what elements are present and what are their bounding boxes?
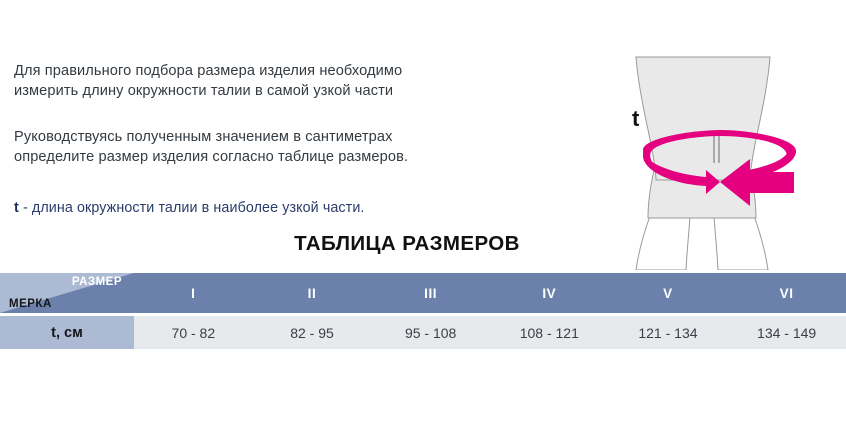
- size-table-head: РАЗМЕР МЕРКА I II III IV V VI: [0, 273, 846, 313]
- instruction-paragraph-2-line-1: Руководствуясь полученным значением в са…: [14, 127, 514, 147]
- corner-measure-label: МЕРКА: [9, 298, 52, 310]
- cell-size-2: 82 - 95: [253, 316, 372, 349]
- column-header-4: IV: [490, 273, 609, 313]
- table-header-row: РАЗМЕР МЕРКА I II III IV V VI: [0, 273, 846, 313]
- column-header-5: V: [609, 273, 728, 313]
- page-title: ТАБЛИЦА РАЗМЕРОВ: [0, 232, 846, 256]
- corner-size-label: РАЗМЕР: [72, 276, 122, 288]
- size-chart-page: Для правильного подбора размера изделия …: [0, 0, 846, 423]
- page-title-text: ТАБЛИЦА РАЗМЕРОВ: [294, 232, 520, 256]
- size-table: РАЗМЕР МЕРКА I II III IV V VI t, см: [0, 273, 846, 349]
- table-corner-cell: РАЗМЕР МЕРКА: [0, 273, 134, 313]
- cell-size-4: 108 - 121: [490, 316, 609, 349]
- instruction-paragraph-1-line-1: Для правильного подбора размера изделия …: [14, 61, 514, 81]
- size-table-body: t, см 70 - 82 82 - 95 95 - 108 108 - 121…: [0, 313, 846, 349]
- column-header-3: III: [371, 273, 490, 313]
- row-label-waist: t, см: [0, 316, 134, 349]
- t-label: t: [632, 108, 639, 130]
- cell-size-3: 95 - 108: [371, 316, 490, 349]
- size-table-grid: РАЗМЕР МЕРКА I II III IV V VI t, см: [0, 273, 846, 349]
- instruction-paragraph-2: Руководствуясь полученным значением в са…: [14, 127, 514, 167]
- cell-size-5: 121 - 134: [609, 316, 728, 349]
- column-header-2: II: [253, 273, 372, 313]
- instruction-paragraph-1-line-2: измерить длину окружности талии в самой …: [14, 81, 514, 101]
- measurement-legend: t - длина окружности талии в наиболее уз…: [14, 198, 514, 218]
- cell-size-6: 134 - 149: [727, 316, 846, 349]
- column-header-6: VI: [727, 273, 846, 313]
- column-header-1: I: [134, 273, 253, 313]
- cell-size-1: 70 - 82: [134, 316, 253, 349]
- table-row: t, см 70 - 82 82 - 95 95 - 108 108 - 121…: [0, 316, 846, 349]
- instruction-paragraph-1: Для правильного подбора размера изделия …: [14, 61, 514, 101]
- instruction-paragraph-2-line-2: определите размер изделия согласно табли…: [14, 147, 514, 167]
- measurement-legend-text: - длина окружности талии в наиболее узко…: [19, 200, 365, 216]
